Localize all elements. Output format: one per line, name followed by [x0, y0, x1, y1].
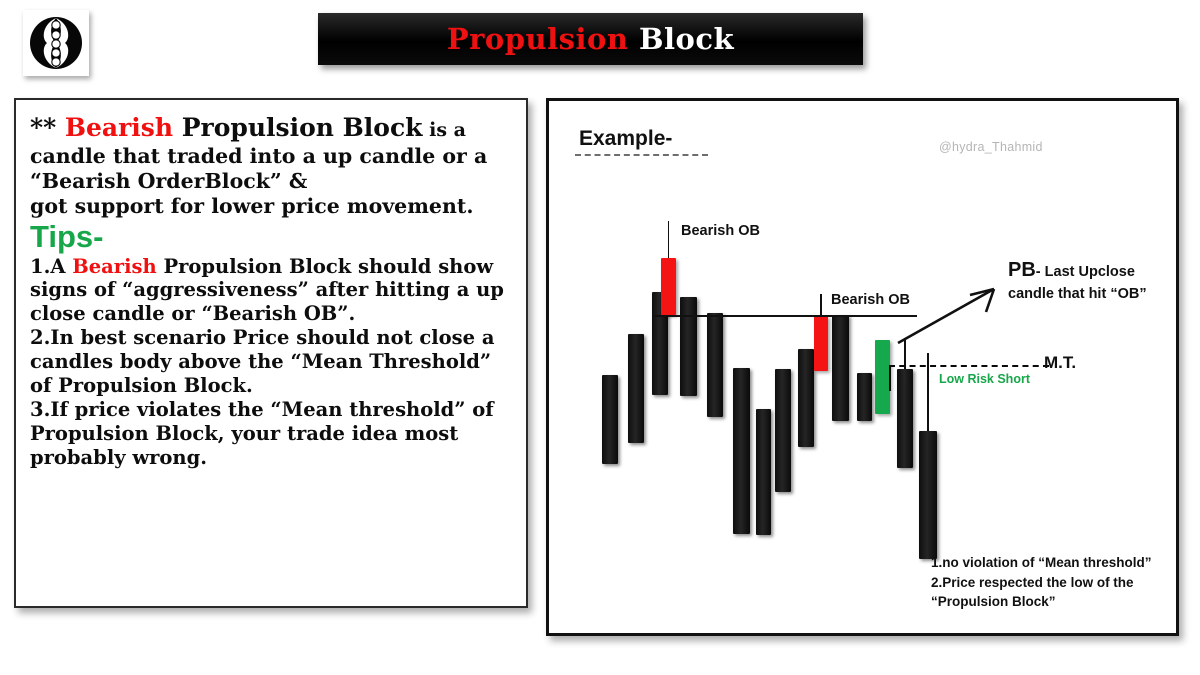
candle-body-9 [775, 369, 791, 492]
candle-wick [820, 294, 822, 316]
title-word-white: Block [639, 22, 734, 56]
pb-abbrev: PB [1008, 259, 1036, 281]
page-title: Propulsion Block [447, 22, 734, 56]
label-bearish-ob-1: Bearish OB [681, 223, 760, 239]
candle-body-11 [814, 316, 828, 371]
bottom-notes: 1.no violation of “Mean threshold” 2.Pri… [931, 553, 1171, 612]
definition-line-3: “Bearish OrderBlock” & [30, 169, 307, 193]
definition-keyword-bearish: Bearish [65, 113, 173, 142]
label-mean-threshold: M.T. [1044, 353, 1076, 373]
candle-body-16 [919, 431, 937, 559]
pb-annotation-note: PB- Last Upclose candle that hit “OB” [1008, 257, 1179, 305]
tip-2-text: 2.In best scenario Price should not clos… [30, 326, 494, 397]
hydra-logo-icon [23, 10, 89, 76]
definition-line-2: candle that traded into a up candle or a [30, 144, 487, 168]
definition-stars: ** [30, 113, 65, 142]
candle-body-8 [756, 409, 771, 535]
label-low-risk-short: Low Risk Short [939, 372, 1030, 386]
candle-body-14 [875, 340, 890, 414]
brand-logo [23, 10, 89, 76]
candle-body-6 [707, 313, 723, 417]
tip-item-2: 2.In best scenario Price should not clos… [30, 326, 514, 398]
pb-pointer-arrow-icon [894, 279, 1009, 349]
tip-1-keyword: Bearish [72, 255, 156, 278]
tips-heading: Tips- [30, 219, 514, 255]
mean-threshold-line [889, 365, 1049, 367]
definition-panel: ** Bearish Propulsion Block is a candle … [14, 98, 528, 608]
candle-body-15 [897, 369, 913, 468]
order-block-level-line [654, 315, 917, 317]
tip-1-number: 1.A [30, 255, 72, 278]
mean-threshold-tick [889, 365, 891, 391]
candle-body-10 [798, 349, 814, 447]
candle-body-4 [661, 258, 676, 315]
candle-wick [668, 221, 670, 258]
tip-item-3: 3.If price violates the “Mean threshold”… [30, 398, 514, 470]
example-chart-panel: Example- @hydra_Thahmid Bearish OB Beari… [546, 98, 1179, 636]
candle-body-7 [733, 368, 750, 534]
candle-body-2 [628, 334, 644, 443]
page-title-banner: Propulsion Block [318, 13, 863, 65]
definition-head-rest: Propulsion Block [173, 113, 422, 142]
tip-3-text: 3.If price violates the “Mean threshold”… [30, 398, 494, 469]
tip-item-1: 1.A Bearish Propulsion Block should show… [30, 255, 514, 327]
definition-line-4: got support for lower price movement. [30, 194, 473, 218]
candle-body-5 [680, 297, 697, 396]
candle-body-1 [602, 375, 618, 464]
definition-text: ** Bearish Propulsion Block is a candle … [30, 113, 514, 219]
candle-body-12 [832, 315, 849, 421]
definition-is-a: is a [423, 119, 466, 141]
title-word-red: Propulsion [447, 22, 629, 56]
candle-body-13 [857, 373, 872, 421]
